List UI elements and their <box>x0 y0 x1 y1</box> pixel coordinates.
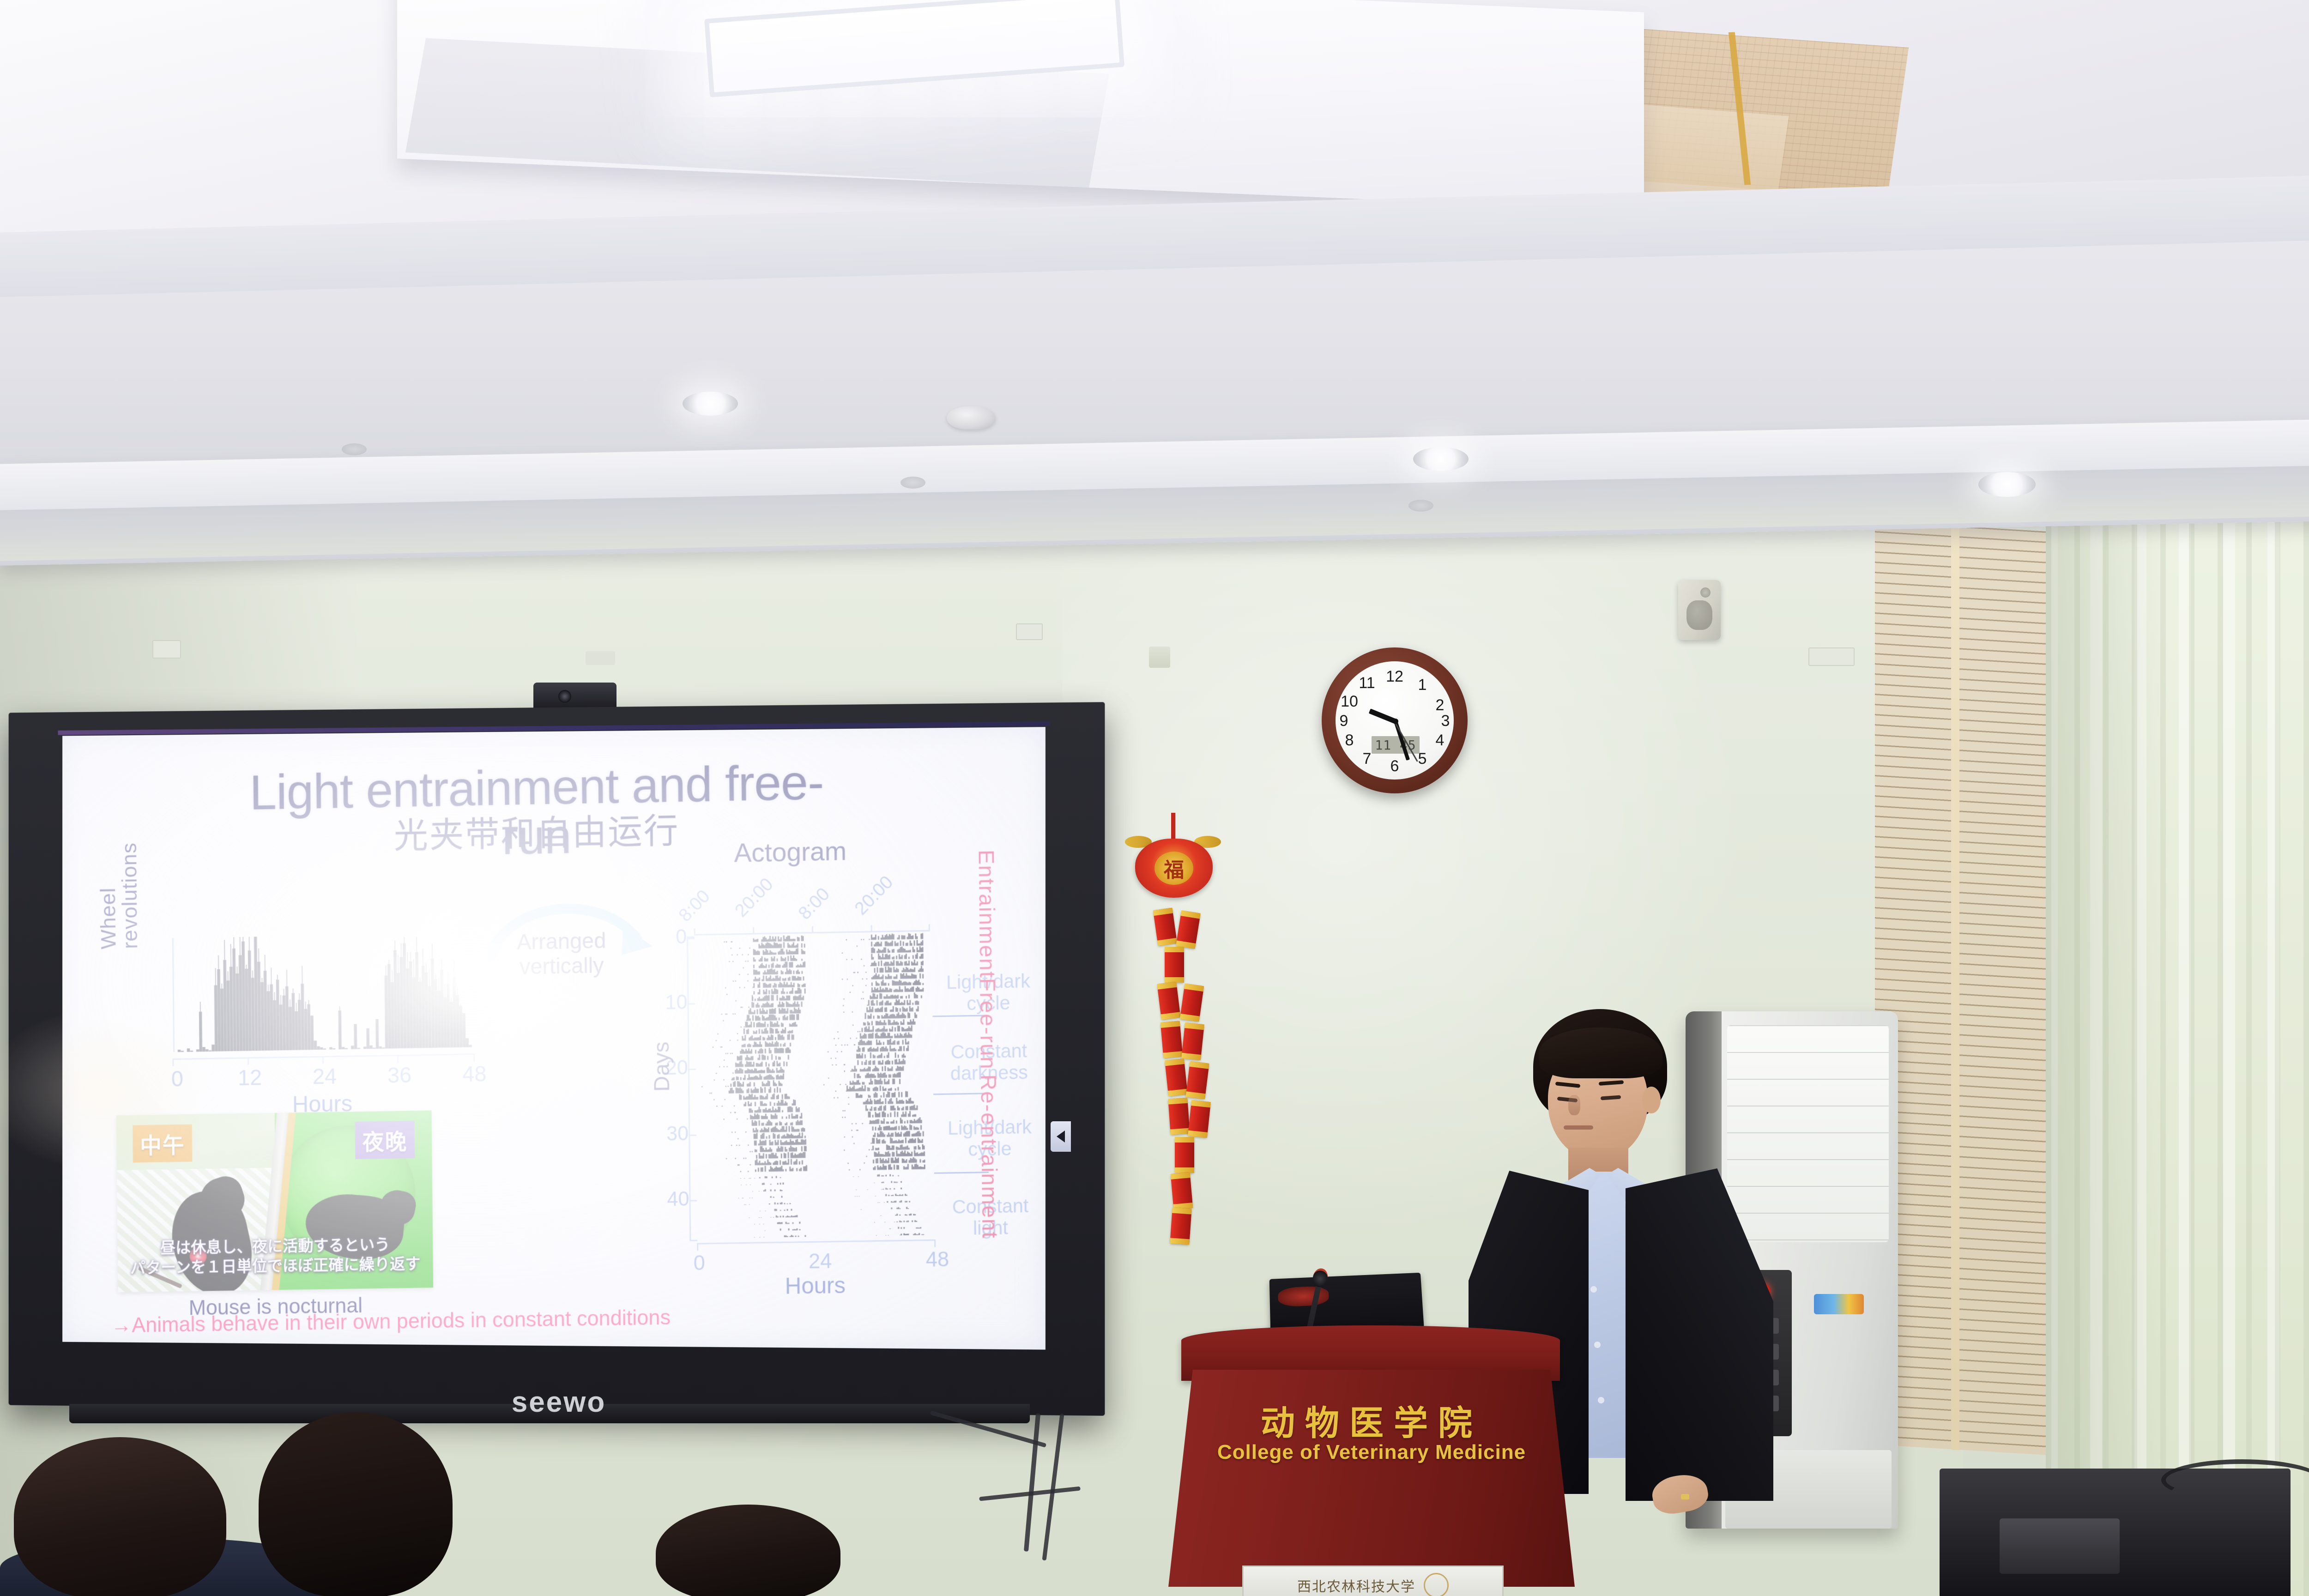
actogram-top-tick-label: 8:00 <box>675 886 714 926</box>
actogram-title: Actogram <box>695 835 886 869</box>
xtick-label: 48 <box>462 1062 487 1087</box>
axis-tick <box>397 1056 399 1063</box>
acoustic-slat-panel <box>1875 521 2055 1456</box>
wall-clock: 12 1 2 3 4 5 6 7 8 9 10 11 11 45 <box>1322 647 1468 793</box>
clock-center-pivot <box>1393 719 1398 724</box>
clock-face: 12 1 2 3 4 5 6 7 8 9 10 11 11 45 <box>1336 661 1454 780</box>
ytick-label: 0 <box>676 925 687 949</box>
firecracker <box>1180 983 1204 1022</box>
axis-tick <box>688 938 695 939</box>
laptop-screen-content <box>1278 1286 1329 1307</box>
firecracker <box>1188 1100 1211 1138</box>
shirt-button <box>1598 1397 1604 1403</box>
actogram-top-axis-labels: 8:00 20:00 8:00 20:00 <box>672 867 954 927</box>
ceiling-vent-1 <box>342 443 367 455</box>
photo-tag-night: 夜晚 <box>355 1121 415 1159</box>
wall-control-box[interactable] <box>586 651 615 665</box>
ceiling-vent-2 <box>901 477 925 489</box>
wheel-revolutions-chart: Wheel revolutions 0 12 24 <box>114 925 489 1109</box>
plaque-text: 西北农林科技大学 <box>1297 1575 1415 1596</box>
display-camera <box>533 683 617 709</box>
audience-head <box>656 1505 840 1596</box>
actogram-chart: Actogram 8:00 20:00 8:00 20:00 <box>641 834 972 1301</box>
firecracker <box>1161 1021 1183 1058</box>
wheel-chart-ylabel: Wheel revolutions <box>97 812 141 949</box>
charm-fu-character: 福 <box>1154 852 1193 885</box>
clock-numeral: 4 <box>1431 731 1449 750</box>
xtick-label: 48 <box>926 1246 949 1271</box>
ytick-label: 30 <box>666 1122 689 1145</box>
display-brand-logo: seewo <box>462 1381 656 1423</box>
arranged-vertically-label: Arranged vertically <box>496 928 628 979</box>
phase-label-entrainment: Entrainment <box>973 849 1000 979</box>
axis-tick <box>690 1200 697 1201</box>
presenter-ear <box>1642 1087 1661 1113</box>
axis-tick <box>689 1003 695 1004</box>
speaker-tweeter-icon <box>1700 587 1711 598</box>
plaque-seal-icon <box>1424 1573 1449 1596</box>
axis-tick <box>929 924 930 930</box>
arrow-label-line2: vertically <box>496 953 627 980</box>
clock-numeral: 12 <box>1385 668 1404 686</box>
actogram-top-tick-label: 20:00 <box>851 872 897 919</box>
side-monitor <box>2000 1518 2120 1574</box>
firecracker <box>1185 1061 1209 1100</box>
ytick-label: 10 <box>665 991 687 1014</box>
lectern: 动物医学院 College of Veterinary Medicine 西北农… <box>1168 1325 1575 1596</box>
firecracker <box>1171 1172 1193 1209</box>
xtick-label: 0 <box>171 1066 184 1092</box>
phase-label-free-run: Free-run <box>974 978 1000 1070</box>
curtain-shading <box>2046 490 2309 1596</box>
lectern-plaque: 西北农林科技大学 <box>1242 1566 1504 1596</box>
axis-tick <box>753 927 754 933</box>
clock-numeral: 11 <box>1358 674 1376 692</box>
lectern-title-chinese: 动物医学院 <box>1168 1396 1575 1445</box>
photo-caption-japanese: 昼は休息し、夜に活動するという パターンを１日単位でほぼ正確に繰り返す <box>127 1235 424 1278</box>
audience-head <box>259 1412 453 1596</box>
camera-lens-icon <box>558 690 571 703</box>
display-sidebar-toggle-button[interactable] <box>1051 1121 1071 1152</box>
shirt-button <box>1594 1342 1601 1348</box>
wall-mounted-box <box>1149 647 1170 668</box>
lectern-title-english: College of Veterinary Medicine <box>1168 1441 1575 1464</box>
axis-tick <box>871 925 872 931</box>
arrow-label-line1: Arranged <box>496 928 627 955</box>
wheel-chart-xticklabels: 0 12 24 36 48 <box>157 1062 487 1094</box>
clock-numeral: 10 <box>1340 693 1359 711</box>
ac-brand-badge <box>1814 1294 1864 1314</box>
clock-numeral: 1 <box>1413 676 1432 694</box>
clock-numeral: 6 <box>1385 757 1404 775</box>
charm-medallion: 福 <box>1135 839 1213 898</box>
xtick-label: 0 <box>693 1250 705 1275</box>
smoke-detector <box>947 406 996 429</box>
actogram-xlabel: Hours <box>747 1271 883 1300</box>
ceiling-vent-3 <box>1408 500 1433 512</box>
wall-outlet-plate-2[interactable] <box>1016 623 1043 640</box>
clock-numeral: 9 <box>1335 712 1353 730</box>
xtick-label: 24 <box>809 1248 832 1273</box>
clock-numeral: 3 <box>1436 712 1455 730</box>
ytick-label: 40 <box>667 1188 689 1211</box>
axis-tick <box>248 1058 249 1065</box>
downlight-2 <box>1413 447 1469 471</box>
axis-tick <box>694 928 695 934</box>
wheel-chart-svg <box>174 933 472 1052</box>
firecracker <box>1153 907 1177 946</box>
xtick-label: 36 <box>387 1063 412 1088</box>
interactive-whiteboard-display[interactable]: Light entrainment and free-run 光夹带和自由运行 … <box>9 702 1105 1415</box>
shirt-button <box>1590 1286 1597 1293</box>
firecracker <box>1170 1208 1191 1245</box>
axis-tick <box>812 926 813 932</box>
clock-numeral: 8 <box>1340 731 1359 750</box>
wall-outlet-plate-1[interactable] <box>152 640 181 659</box>
audience-head <box>14 1437 226 1596</box>
firecracker <box>1168 1098 1190 1135</box>
presenter-mouth <box>1564 1125 1593 1130</box>
phase-label-re-entrainment: Re-entrainment <box>975 1074 1002 1239</box>
actogram-svg <box>694 932 933 1239</box>
xtick-label: 12 <box>238 1065 262 1091</box>
chevron-left-icon <box>1057 1130 1065 1143</box>
presenter-nose <box>1568 1095 1580 1115</box>
clock-hour-hand <box>1369 708 1396 724</box>
charm-cord <box>1171 813 1175 840</box>
actogram-top-tick-label: 8:00 <box>794 884 834 924</box>
axis-tick <box>322 1058 324 1064</box>
chinese-fu-charm-decoration: 福 <box>1127 813 1219 1302</box>
downlight-3 <box>1978 472 2036 497</box>
wall-speaker <box>1678 580 1721 640</box>
actogram-ylabel: Days <box>649 1021 675 1112</box>
axis-tick <box>689 1069 696 1070</box>
firecracker <box>1165 947 1184 983</box>
mouse-behaviour-photo: 中午 夜晚 昼は休息し、夜に活動するという パターンを１日単位でほぼ正確に繰り返… <box>116 1110 433 1292</box>
firecracker <box>1157 982 1180 1020</box>
firecracker <box>1181 1022 1204 1060</box>
slat-panel-divider <box>1951 521 1959 1450</box>
presentation-slide: Light entrainment and free-run 光夹带和自由运行 … <box>62 727 1031 1342</box>
photo-tag-noon: 中午 <box>133 1124 192 1163</box>
firecracker <box>1176 910 1201 949</box>
wheel-chart-plot-area <box>172 933 472 1052</box>
actogram-plot-area <box>694 932 933 1239</box>
display-screen[interactable]: Light entrainment and free-run 光夹带和自由运行 … <box>62 727 1046 1349</box>
actogram-top-tick-label: 20:00 <box>731 874 777 921</box>
wall-plate-right <box>1808 647 1855 666</box>
downlight-1 <box>683 392 738 416</box>
axis-tick <box>690 1135 696 1136</box>
xtick-label: 24 <box>313 1064 337 1089</box>
firecracker <box>1165 1058 1188 1096</box>
presenter-jacket-right <box>1626 1168 1773 1501</box>
lecture-hall-scene: 12 1 2 3 4 5 6 7 8 9 10 11 11 45 福 <box>0 0 2309 1596</box>
firecracker <box>1175 1137 1194 1173</box>
presenter-hair-front <box>1539 1028 1662 1078</box>
speaker-woofer-icon <box>1686 600 1712 630</box>
presenter-ring <box>1681 1494 1689 1499</box>
